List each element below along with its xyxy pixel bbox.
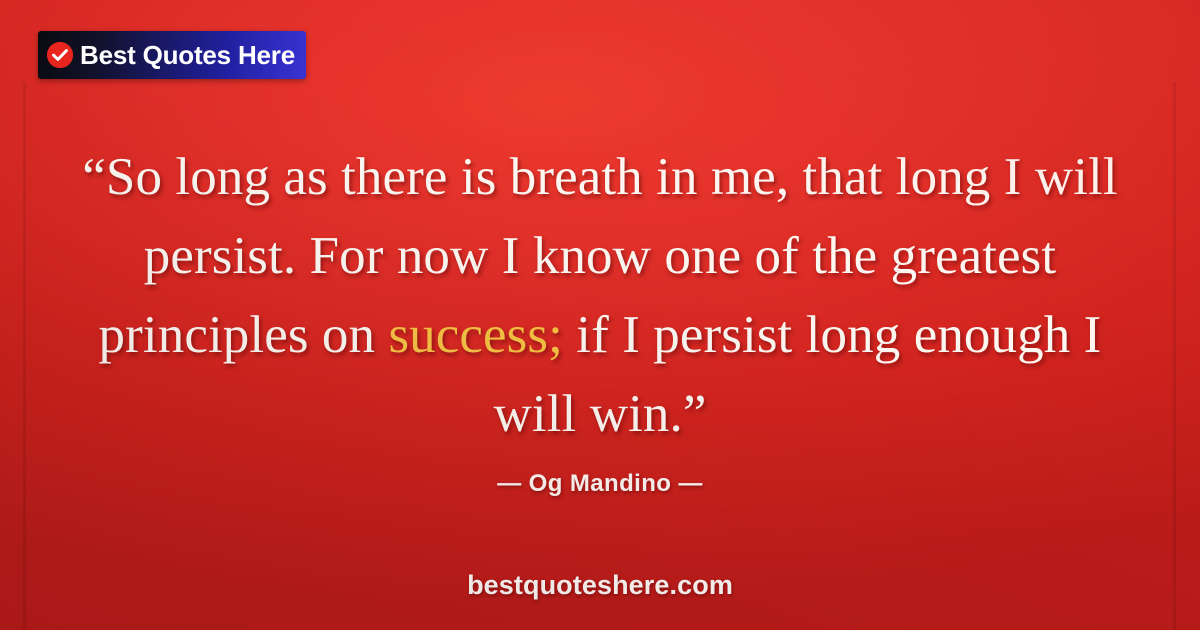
quote-author: — Og Mandino — <box>0 470 1200 498</box>
quote-highlight-word: success; <box>388 306 562 364</box>
brand-label: Best Quotes Here <box>80 42 295 68</box>
site-url[interactable]: bestquoteshere.com <box>0 570 1200 601</box>
quote-open-mark: “ <box>82 148 106 206</box>
quote-text: “So long as there is breath in me, that … <box>60 138 1140 454</box>
quote-block: “So long as there is breath in me, that … <box>60 138 1140 454</box>
right-edge-rule <box>1173 82 1176 630</box>
quote-close-mark: ” <box>683 385 707 443</box>
verified-check-icon <box>47 42 73 68</box>
quote-card: Best Quotes Here “So long as there is br… <box>0 0 1200 630</box>
brand-badge[interactable]: Best Quotes Here <box>38 31 306 79</box>
quote-part-2: if I persist long enough I will win. <box>494 306 1102 443</box>
left-edge-rule <box>23 82 26 630</box>
